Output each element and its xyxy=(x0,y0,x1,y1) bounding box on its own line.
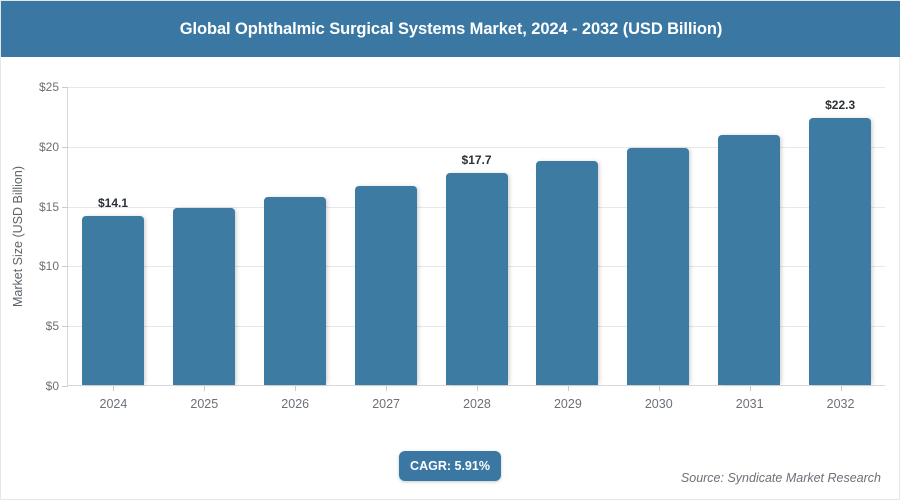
cagr-badge: CAGR: 5.91% xyxy=(399,451,501,481)
x-axis-tick xyxy=(113,385,114,391)
chart-page: Global Ophthalmic Surgical Systems Marke… xyxy=(0,0,900,500)
x-axis-label: 2030 xyxy=(613,397,704,411)
bar-group: 2031 xyxy=(704,87,795,385)
x-axis-tick xyxy=(568,385,569,391)
x-axis-tick xyxy=(204,385,205,391)
bar-group: $17.72028 xyxy=(432,87,523,385)
plot-area: $0$5$10$15$20$25$14.12024202520262027$17… xyxy=(67,87,885,386)
x-axis-tick xyxy=(659,385,660,391)
bar[interactable] xyxy=(264,197,326,385)
chart-header-band: Global Ophthalmic Surgical Systems Marke… xyxy=(1,1,900,57)
x-axis-tick xyxy=(477,385,478,391)
x-axis-label: 2024 xyxy=(68,397,159,411)
bar[interactable] xyxy=(809,118,871,385)
y-axis-label: $5 xyxy=(46,319,59,333)
x-axis-tick xyxy=(386,385,387,391)
x-axis-label: 2025 xyxy=(159,397,250,411)
bar-group: 2026 xyxy=(250,87,341,385)
y-axis-label: $15 xyxy=(39,200,59,214)
x-axis-label: 2026 xyxy=(250,397,341,411)
bar-value-label: $22.3 xyxy=(809,98,871,112)
bar-group: 2029 xyxy=(522,87,613,385)
x-axis-label: 2032 xyxy=(795,397,886,411)
x-axis-tick xyxy=(295,385,296,391)
bar-group: $22.32032 xyxy=(795,87,886,385)
bar-value-label: $14.1 xyxy=(82,196,144,210)
x-axis-label: 2028 xyxy=(432,397,523,411)
source-note: Source: Syndicate Market Research xyxy=(681,471,881,485)
bar[interactable] xyxy=(173,208,235,385)
bar[interactable] xyxy=(355,186,417,385)
y-axis-title: Market Size (USD Billion) xyxy=(9,87,27,386)
bar-group: $14.12024 xyxy=(68,87,159,385)
bar[interactable] xyxy=(718,135,780,385)
bar-group: 2025 xyxy=(159,87,250,385)
x-axis-label: 2027 xyxy=(341,397,432,411)
bar-value-label: $17.7 xyxy=(446,153,508,167)
bar[interactable] xyxy=(536,161,598,385)
bar[interactable] xyxy=(446,173,508,385)
bar-group: 2027 xyxy=(341,87,432,385)
bar[interactable] xyxy=(627,148,689,385)
y-axis-label: $0 xyxy=(46,379,59,393)
x-axis-tick xyxy=(841,385,842,391)
page-title: Global Ophthalmic Surgical Systems Marke… xyxy=(180,20,722,39)
y-axis-label: $20 xyxy=(39,140,59,154)
y-axis-label: $25 xyxy=(39,80,59,94)
x-axis-label: 2029 xyxy=(522,397,613,411)
bar-group: 2030 xyxy=(613,87,704,385)
x-axis-label: 2031 xyxy=(704,397,795,411)
x-axis-tick xyxy=(750,385,751,391)
y-axis-label: $10 xyxy=(39,259,59,273)
y-axis-tick xyxy=(62,386,68,387)
bar[interactable] xyxy=(82,216,144,385)
